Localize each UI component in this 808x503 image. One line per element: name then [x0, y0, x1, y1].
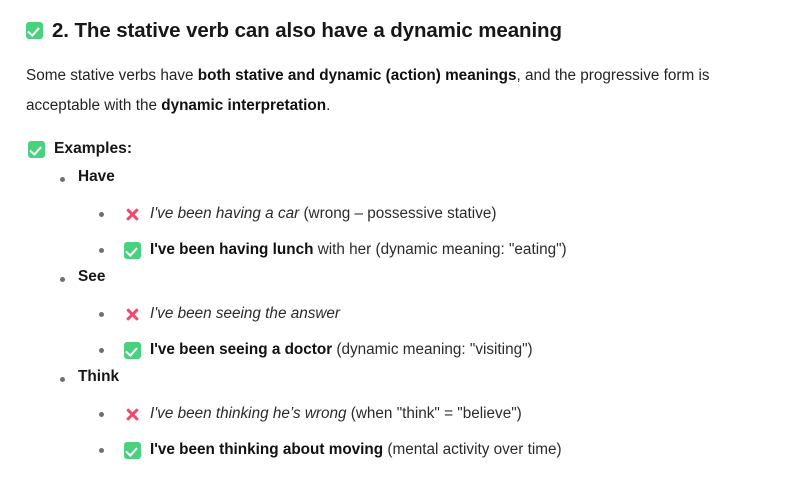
- intro-text-1: Some stative verbs have: [26, 67, 198, 84]
- check-square-icon: [26, 22, 43, 39]
- example-phrase: I've been seeing a doctor: [150, 341, 332, 358]
- examples-label: Examples:: [28, 140, 784, 158]
- x-mark-icon: [124, 206, 141, 223]
- list-item: I've been having lunch with her (dynamic…: [26, 232, 784, 268]
- list-item: Think I've been thinking he’s wrong (whe…: [26, 368, 784, 468]
- list-item: I've been seeing the answer: [26, 296, 784, 332]
- list-item: See I've been seeing the answer I've bee…: [26, 268, 784, 368]
- document-page: 2. The stative verb can also have a dyna…: [0, 0, 808, 503]
- verb-row: Have: [26, 168, 784, 196]
- verb-row: Think: [26, 368, 784, 396]
- intro-paragraph: Some stative verbs have both stative and…: [26, 61, 784, 121]
- page-title: 2. The stative verb can also have a dyna…: [52, 19, 562, 43]
- intro-bold-1: both stative and dynamic (action) meanin…: [198, 67, 517, 84]
- x-mark-icon: [124, 306, 141, 323]
- example-text: I've been thinking he’s wrong (when "thi…: [150, 404, 522, 424]
- list-item: I've been thinking about moving (mental …: [26, 432, 784, 468]
- example-text: I've been having a car (wrong – possessi…: [150, 204, 496, 224]
- verb-name: Think: [59, 368, 119, 386]
- verb-name: Have: [59, 168, 115, 186]
- list-item: I've been seeing a doctor (dynamic meani…: [26, 332, 784, 368]
- example-phrase: I've been having a car: [150, 205, 299, 222]
- list-item: I've been thinking he’s wrong (when "thi…: [26, 396, 784, 432]
- examples-list: I've been seeing the answer I've been se…: [26, 296, 784, 368]
- verb-name: See: [59, 268, 105, 286]
- check-square-icon: [124, 442, 141, 459]
- example-text: I've been thinking about moving (mental …: [150, 440, 562, 460]
- verb-groups-list: Have I've been having a car (wrong – pos…: [26, 168, 784, 468]
- example-note: (wrong – possessive stative): [299, 205, 496, 222]
- example-note: with her (dynamic meaning: "eating"): [313, 241, 566, 258]
- example-phrase: I've been seeing the answer: [150, 305, 340, 322]
- x-mark-icon: [124, 406, 141, 423]
- example-note: (when "think" = "believe"): [347, 405, 522, 422]
- example-text: I've been having lunch with her (dynamic…: [150, 240, 567, 260]
- examples-list: I've been thinking he’s wrong (when "thi…: [26, 396, 784, 468]
- section-heading: 2. The stative verb can also have a dyna…: [26, 19, 784, 43]
- example-phrase: I've been thinking about moving: [150, 441, 383, 458]
- list-item: Have I've been having a car (wrong – pos…: [26, 168, 784, 268]
- intro-bold-2: dynamic interpretation: [161, 97, 326, 114]
- example-note: (dynamic meaning: "visiting"): [332, 341, 532, 358]
- list-item: I've been having a car (wrong – possessi…: [26, 196, 784, 232]
- example-phrase: I've been thinking he’s wrong: [150, 405, 347, 422]
- check-square-icon: [124, 242, 141, 259]
- check-square-icon: [28, 141, 45, 158]
- examples-list: I've been having a car (wrong – possessi…: [26, 196, 784, 268]
- example-phrase: I've been having lunch: [150, 241, 313, 258]
- examples-label-text: Examples:: [54, 140, 132, 158]
- example-text: I've been seeing the answer: [150, 304, 340, 324]
- intro-text-3: .: [326, 97, 330, 114]
- example-note: (mental activity over time): [383, 441, 562, 458]
- verb-row: See: [26, 268, 784, 296]
- check-square-icon: [124, 342, 141, 359]
- example-text: I've been seeing a doctor (dynamic meani…: [150, 340, 533, 360]
